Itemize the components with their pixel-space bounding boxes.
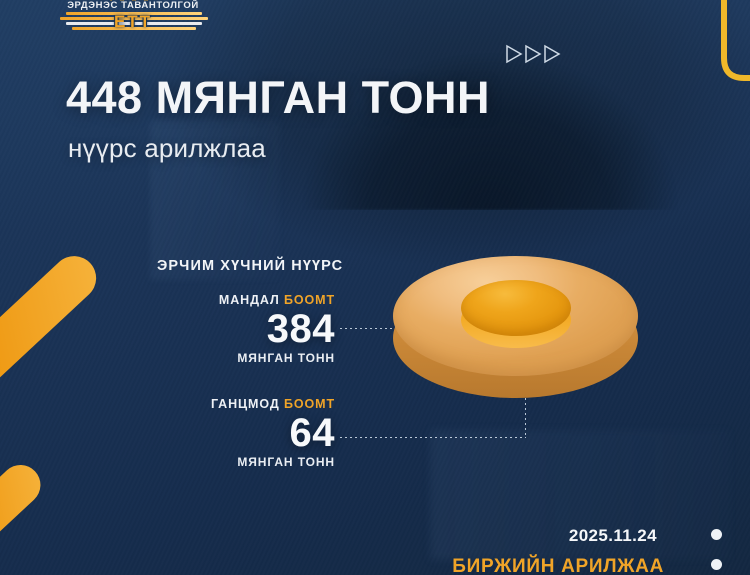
callout-mandal-value: 384 — [180, 308, 335, 350]
bullet-dot-top — [711, 529, 722, 540]
date-label: 2025.11.24 — [569, 526, 657, 546]
infographic-poster: ЭРДЭНЭС ТАВАНТОЛГОЙ ETT 448 МЯНГАН ТОНН … — [0, 0, 750, 575]
triple-chevron-right-icon — [505, 44, 567, 64]
callout-mandal-port-label: БООМТ — [284, 293, 335, 307]
callout-mandal-unit: МЯНГАН ТОНН — [180, 350, 335, 366]
diagonal-bar-small — [0, 457, 49, 575]
callout-mandal: МАНДАЛ БООМТ 384 МЯНГАН ТОНН — [180, 292, 335, 366]
callout-gantsmod-port: ГАНЦМОД БООМТ — [180, 396, 335, 412]
bullet-dot-bottom — [711, 559, 722, 570]
callout-gantsmod-port-name: ГАНЦМОД — [211, 397, 280, 411]
footer-tag: БИРЖИЙН АРИЛЖАА — [452, 556, 664, 575]
leader-line-gantsmod — [340, 437, 526, 438]
chart-title: ЭРЧИМ ХҮЧНИЙ НҮҮРС — [157, 258, 343, 274]
callout-gantsmod-port-label: БООМТ — [284, 397, 335, 411]
donut-inner-disc-top — [461, 280, 571, 336]
callout-gantsmod: ГАНЦМОД БООМТ 64 МЯНГАН ТОНН — [180, 396, 335, 470]
company-logo: ЭРДЭНЭС ТАВАНТОЛГОЙ ETT — [48, 0, 218, 36]
logo-abbreviation: ETT — [98, 12, 168, 32]
callout-mandal-port-name: МАНДАЛ — [219, 293, 280, 307]
callout-gantsmod-value: 64 — [180, 412, 335, 454]
donut-chart — [393, 256, 638, 416]
callout-mandal-port: МАНДАЛ БООМТ — [180, 292, 335, 308]
subheadline: нүүрс арилжлаа — [68, 133, 266, 164]
logo-company-name: ЭРДЭНЭС ТАВАНТОЛГОЙ — [48, 0, 218, 11]
headline: 448 МЯНГАН ТОНН — [66, 72, 490, 124]
diagonal-bar-large — [0, 247, 105, 436]
corner-hook-decoration — [692, 0, 750, 86]
callout-gantsmod-unit: МЯНГАН ТОНН — [180, 454, 335, 470]
